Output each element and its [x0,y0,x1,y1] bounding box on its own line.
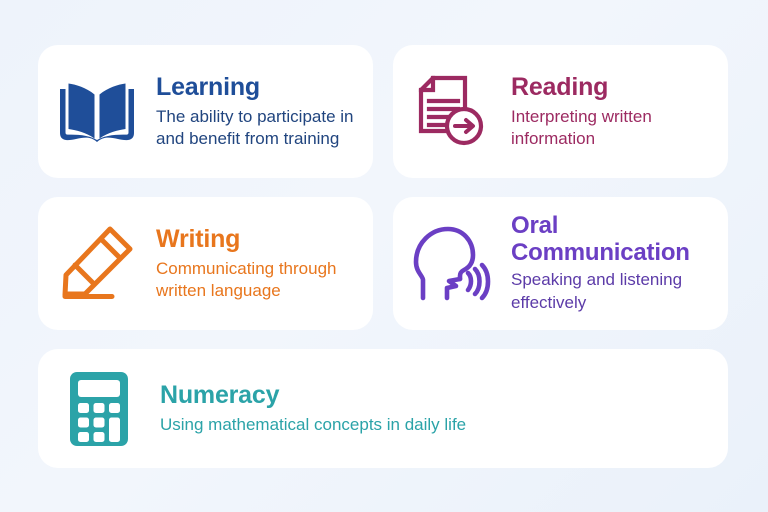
card-description: Using mathematical concepts in daily lif… [160,414,714,436]
card-text-numeracy: Numeracy Using mathematical concepts in … [160,381,728,436]
card-row-2: Writing Communicating through written la… [38,197,728,330]
card-title: Oral Communication [511,213,714,267]
card-reading[interactable]: Reading Interpreting written information [393,45,728,178]
calculator-icon [38,370,160,448]
card-title: Reading [511,73,714,101]
card-numeracy[interactable]: Numeracy Using mathematical concepts in … [38,349,728,468]
card-text-oral-communication: Oral Communication Speaking and listenin… [511,213,728,315]
card-row-1: Learning The ability to participate in a… [38,45,728,178]
skills-card-board: Learning The ability to participate in a… [38,45,728,468]
pencil-icon [38,224,156,304]
card-title: Writing [156,225,359,253]
card-description: Interpreting written information [511,106,714,151]
card-learning[interactable]: Learning The ability to participate in a… [38,45,373,178]
card-description: Communicating through written language [156,258,359,303]
card-text-reading: Reading Interpreting written information [511,73,728,151]
card-text-writing: Writing Communicating through written la… [156,225,373,303]
card-description: Speaking and listening effectively [511,269,714,314]
open-book-icon [38,81,156,143]
document-arrow-icon [393,75,511,149]
card-oral-communication[interactable]: Oral Communication Speaking and listenin… [393,197,728,330]
card-row-3: Numeracy Using mathematical concepts in … [38,349,728,468]
card-title: Numeracy [160,381,714,409]
card-text-learning: Learning The ability to participate in a… [156,73,373,151]
speaking-head-icon [393,224,511,304]
card-writing[interactable]: Writing Communicating through written la… [38,197,373,330]
card-description: The ability to participate in and benefi… [156,106,359,151]
card-title: Learning [156,73,359,101]
